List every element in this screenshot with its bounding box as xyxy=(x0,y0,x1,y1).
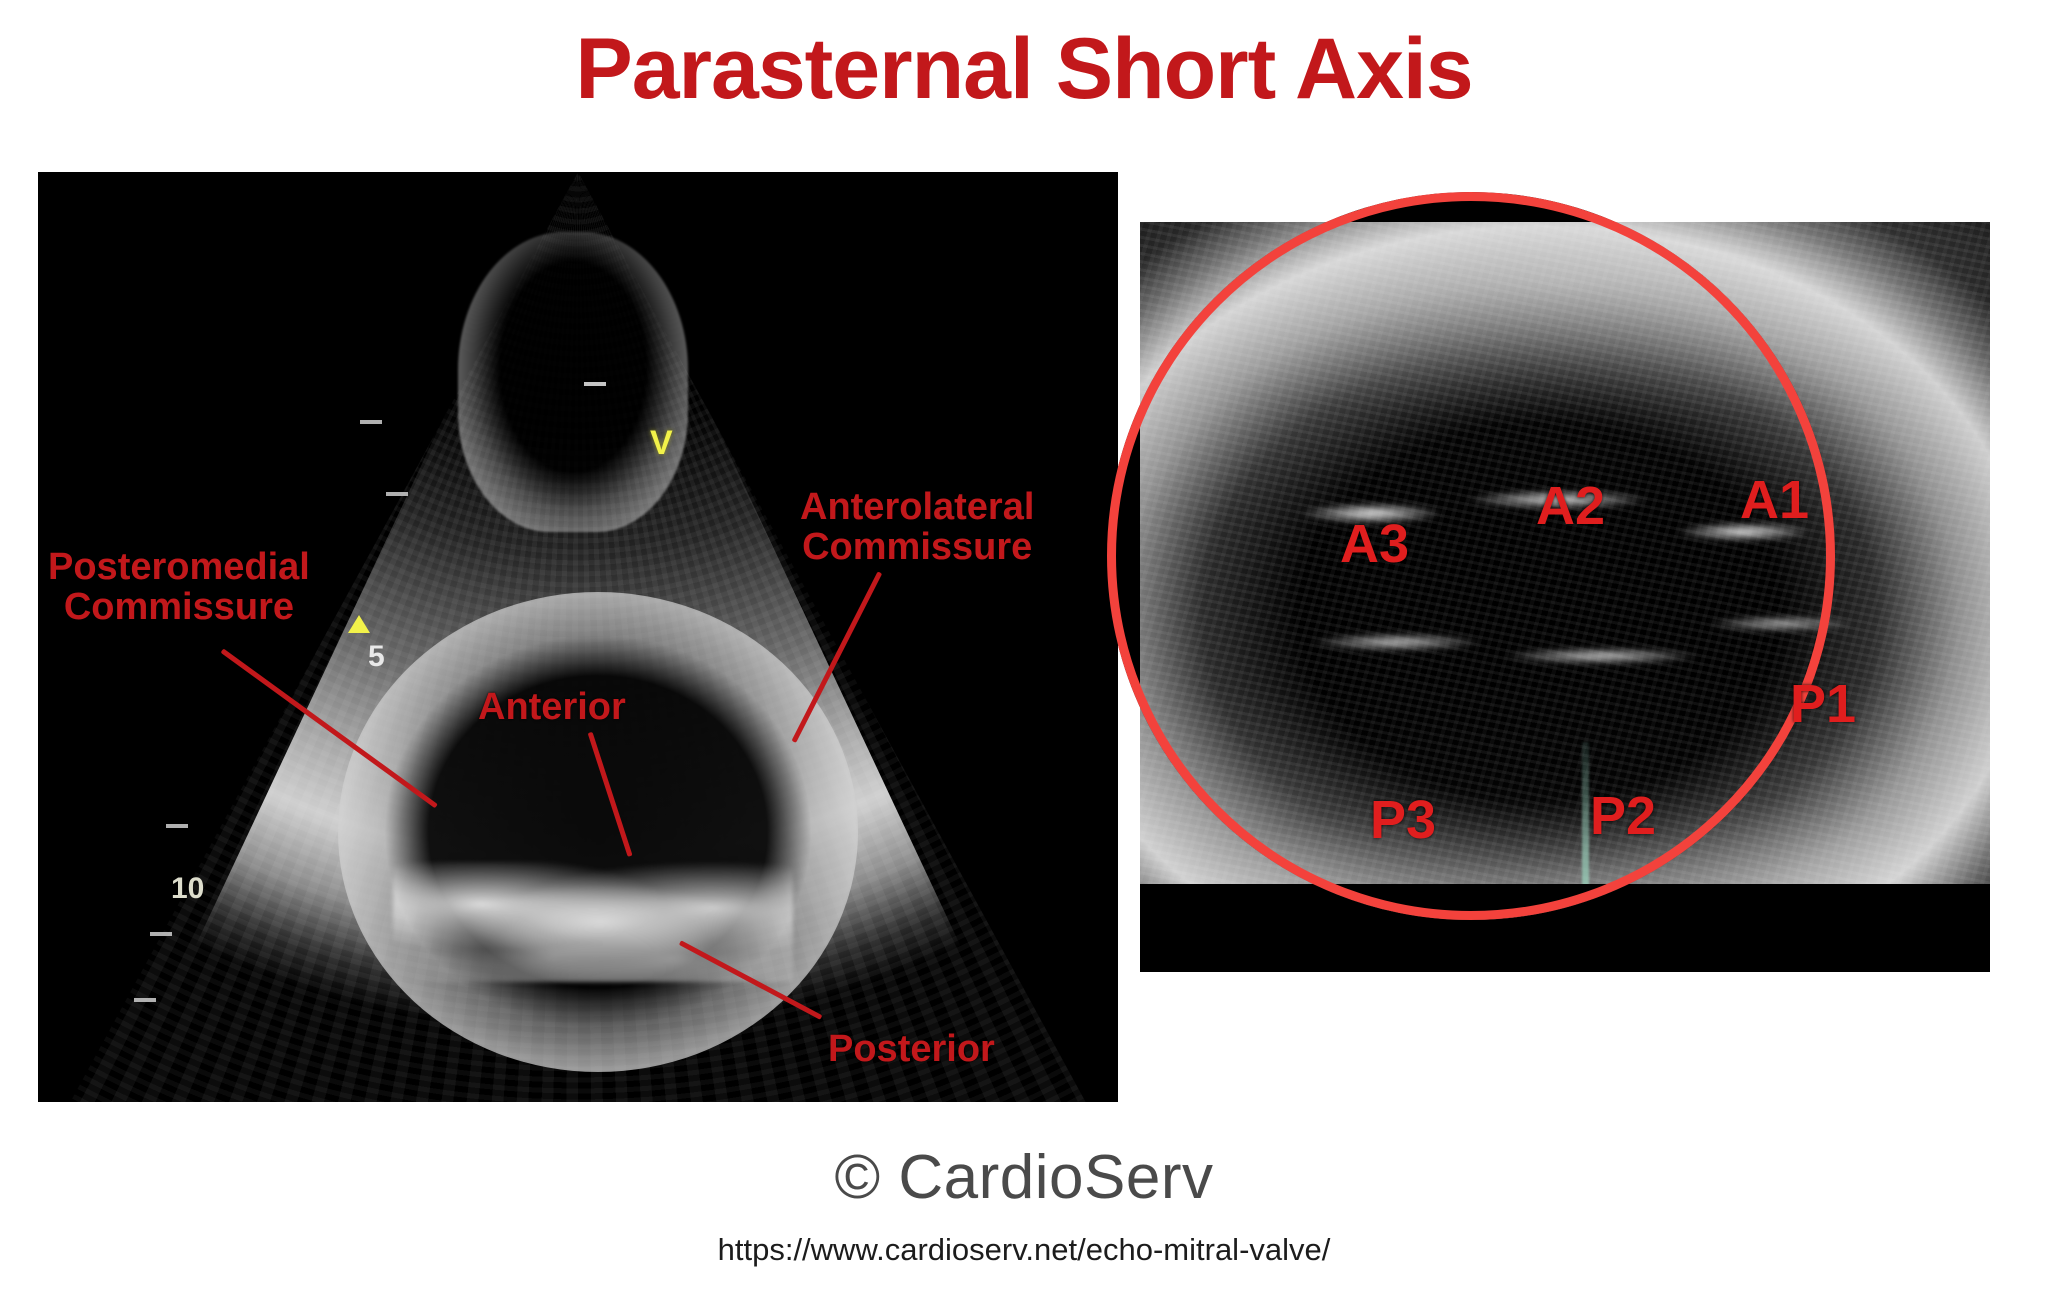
copyright-text: © CardioServ xyxy=(0,1142,2048,1213)
figure-root: Parasternal Short Axis V 5 10 Posteromed… xyxy=(0,0,2048,1296)
label-segment-a2: A2 xyxy=(1536,478,1605,534)
magnifier-circle-fill xyxy=(1107,192,1835,920)
label-posteromedial-commissure: PosteromedialCommissure xyxy=(48,548,310,627)
label-segment-a3: A3 xyxy=(1340,516,1409,572)
label-line-1: Posteromedial xyxy=(48,546,310,588)
label-anterolateral-commissure: AnterolateralCommissure xyxy=(800,488,1034,567)
magnifier-inner-image xyxy=(1140,222,1835,920)
label-segment-p3: P3 xyxy=(1370,792,1436,848)
label-anterior-leaflet: Anterior xyxy=(478,688,626,728)
mitral-valve-leaflets xyxy=(393,862,793,982)
depth-marker-5: 5 xyxy=(368,640,385,674)
depth-tick xyxy=(150,932,172,936)
depth-triangle-marker xyxy=(348,615,370,633)
depth-tick xyxy=(386,492,408,496)
left-ventricle-short-axis-ring xyxy=(338,592,858,1072)
source-url[interactable]: https://www.cardioserv.net/echo-mitral-v… xyxy=(0,1232,2048,1268)
label-segment-a1: A1 xyxy=(1740,472,1809,528)
orientation-marker-v: V xyxy=(650,424,673,463)
left-echo-panel: V 5 10 xyxy=(38,172,1118,1102)
depth-marker-10: 10 xyxy=(171,872,204,906)
page-title: Parasternal Short Axis xyxy=(0,24,2048,114)
depth-tick xyxy=(584,382,606,386)
label-line-2: Commissure xyxy=(802,526,1032,568)
label-segment-p1: P1 xyxy=(1790,676,1856,732)
depth-tick xyxy=(134,998,156,1002)
label-posterior-leaflet: Posterior xyxy=(828,1030,995,1070)
label-line-1: Anterolateral xyxy=(800,486,1034,528)
aortic-root-structure xyxy=(458,232,688,532)
depth-tick xyxy=(166,824,188,828)
depth-tick xyxy=(360,420,382,424)
label-segment-p2: P2 xyxy=(1590,788,1656,844)
ecg-spike xyxy=(1582,742,1589,892)
left-echo-image: V 5 10 xyxy=(38,172,1118,1102)
label-line-2: Commissure xyxy=(64,586,294,628)
panel-footer-band xyxy=(1140,884,1835,920)
